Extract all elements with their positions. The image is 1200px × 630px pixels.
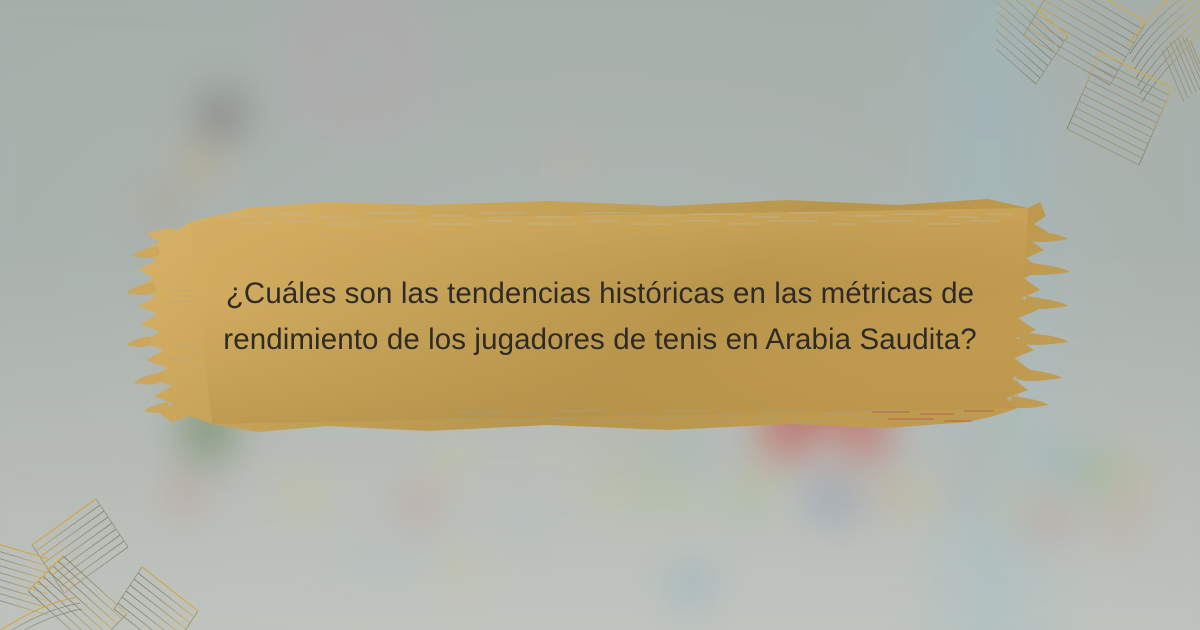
- headline-line-1: ¿Cuáles son las tendencias históricas en…: [226, 271, 974, 317]
- headline-line-2: rendimiento de los jugadores de tenis en…: [223, 317, 976, 363]
- headline-banner: ¿Cuáles son las tendencias históricas en…: [128, 186, 1072, 448]
- question-card: ¿Cuáles son las tendencias históricas en…: [0, 0, 1200, 630]
- headline-text-block: ¿Cuáles son las tendencias históricas en…: [128, 186, 1072, 448]
